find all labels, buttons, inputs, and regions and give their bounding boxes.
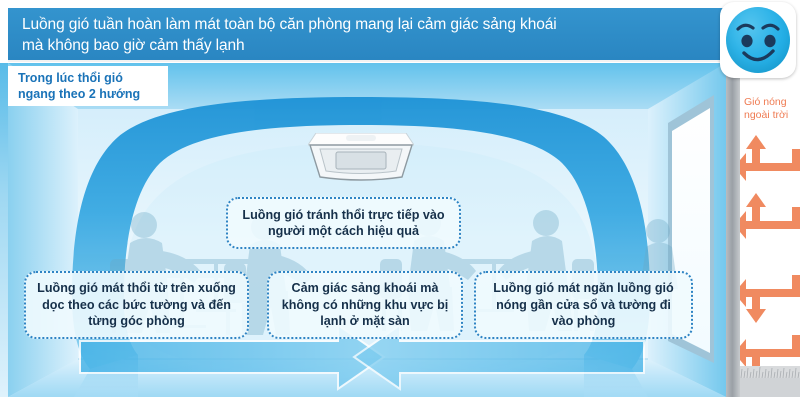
callout-bubble-top: Luồng gió tránh thổi trực tiếp vào người… (226, 197, 461, 249)
mode-label-line2: ngang theo 2 hướng (18, 86, 166, 102)
smiley-badge (720, 2, 796, 78)
outdoor-area: Gió nóng ngoài trời (740, 63, 800, 397)
infographic-canvas: Luồng gió tránh thổi trực tiếp vào người… (0, 0, 800, 400)
outdoor-hot-air-label: Gió nóng ngoài trời (744, 96, 798, 122)
callout-bubble-right-text: Luồng gió mát ngăn luồng gió nóng gần cử… (484, 280, 683, 330)
header-title-line1: Luồng gió tuần hoàn làm mát toàn bộ căn … (22, 14, 712, 35)
mode-label: Trong lúc thổi gió ngang theo 2 hướng (8, 66, 168, 106)
room-left-edge (0, 63, 8, 397)
ground-texture (740, 366, 800, 397)
outdoor-label-line1: Gió nóng (744, 96, 798, 109)
room-scene: Luồng gió tránh thổi trực tiếp vào người… (8, 63, 726, 397)
mode-label-line1: Trong lúc thổi gió (18, 70, 166, 86)
header-banner: Luồng gió tuần hoàn làm mát toàn bộ căn … (8, 8, 726, 60)
smiley-face-icon (726, 7, 790, 73)
callout-bubble-middle: Cảm giác sảng khoái mà không có những kh… (267, 271, 463, 339)
callout-bubble-left-text: Luồng gió mát thổi từ trên xuống dọc the… (34, 280, 239, 330)
callout-bubble-middle-text: Cảm giác sảng khoái mà không có những kh… (277, 280, 453, 330)
callout-bubble-left: Luồng gió mát thổi từ trên xuống dọc the… (24, 271, 249, 339)
callout-bubble-right: Luồng gió mát ngăn luồng gió nóng gần cử… (474, 271, 693, 339)
header-title-line2: mà không bao giờ cảm thấy lạnh (22, 35, 712, 56)
callout-bubble-top-text: Luồng gió tránh thổi trực tiếp vào người… (236, 207, 451, 240)
ceiling-cassette-ac-icon (308, 133, 414, 181)
exterior-wall (726, 63, 740, 397)
outdoor-label-line2: ngoài trời (744, 109, 798, 122)
